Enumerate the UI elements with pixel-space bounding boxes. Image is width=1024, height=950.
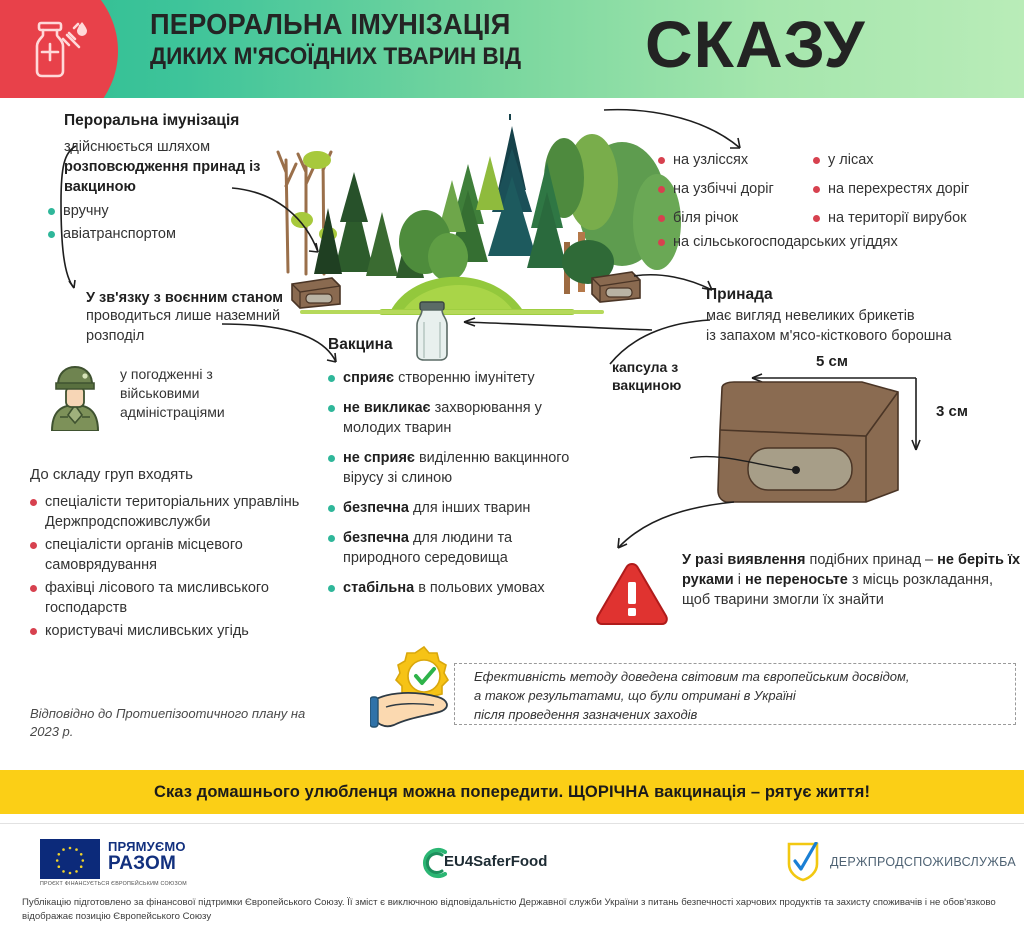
plan-note: Відповідно до Протиепізоотичного плану н… bbox=[30, 705, 330, 741]
callout-line3: після проведення зазначених заходів bbox=[474, 705, 1014, 724]
vaccine-item-rest: для інших тварин bbox=[409, 500, 531, 516]
list-item: на території вирубок bbox=[813, 208, 1024, 228]
bullet-dot-icon bbox=[328, 375, 335, 382]
list-item: у лісах bbox=[813, 150, 1024, 170]
header-titles: ПЕРОРАЛЬНА ІМУНІЗАЦІЯ ДИКИХ М'ЯСОЇДНИХ Т… bbox=[150, 8, 1010, 92]
place-label: на узліссях bbox=[673, 150, 748, 170]
groups-block: До складу груп входять спеціалісти терит… bbox=[30, 466, 310, 644]
bullet-dot-icon bbox=[658, 186, 665, 193]
disclaimer-text: Публікацію підготовлено за фінансової пі… bbox=[22, 896, 1012, 924]
list-item: фахівці лісового та мисливського господа… bbox=[30, 578, 310, 618]
callout-line1: Ефективність методу доведена світовим та… bbox=[474, 667, 1014, 686]
eu-word-1: ПРЯМУЄМО bbox=[108, 839, 186, 854]
bullet-dot-icon bbox=[30, 585, 37, 592]
bait-dim-width-text: 5 см bbox=[816, 353, 848, 370]
bullet-dot-icon bbox=[813, 215, 820, 222]
list-item: на перехрестях доріг bbox=[813, 179, 1024, 199]
vaccine-item-bold: безпечна bbox=[343, 500, 409, 516]
oral-immunization-title: Пероральна імунізація bbox=[64, 112, 290, 130]
vaccine-item: стабільна в польових умовах bbox=[343, 578, 545, 598]
bullet-dot-icon bbox=[328, 535, 335, 542]
bullet-dot-icon bbox=[30, 499, 37, 506]
place-label: на узбіччі доріг bbox=[673, 179, 774, 199]
place-label: на перехрестях доріг bbox=[828, 179, 969, 199]
header-title-big: СКАЗУ bbox=[645, 2, 866, 86]
group-label: спеціалісти територіальних управлінь Дер… bbox=[45, 492, 310, 532]
list-item: на узліссях bbox=[658, 150, 818, 170]
derzh-text: ДЕРЖПРОДСПОЖИВСЛУЖБА bbox=[830, 855, 1016, 869]
list-item: біля річок bbox=[658, 208, 818, 228]
eu4saferfood-logo: EU4SaferFood bbox=[418, 846, 618, 880]
effectiveness-callout: Ефективність методу доведена світовим та… bbox=[370, 645, 1024, 741]
brace-connector-icon bbox=[54, 142, 80, 292]
vaccine-item-bold: стабільна bbox=[343, 580, 414, 596]
vaccine-title: Вакцина bbox=[328, 336, 590, 354]
list-item: не викликає захворювання у молодих твари… bbox=[328, 398, 590, 438]
vaccine-block: Вакцина сприяє створенню імунітету не ви… bbox=[328, 336, 590, 608]
banner-text: Сказ домашнього улюбленця можна попереди… bbox=[154, 783, 870, 802]
bullet-dot-icon bbox=[813, 157, 820, 164]
oral-lead-normal: здійснюється шляхом bbox=[64, 139, 210, 155]
eu4saferfood-text: EU4SaferFood bbox=[444, 853, 547, 870]
list-item: стабільна в польових умовах bbox=[328, 578, 590, 598]
infographic-page: ПЕРОРАЛЬНА ІМУНІЗАЦІЯ ДИКИХ М'ЯСОЇДНИХ Т… bbox=[0, 0, 1024, 950]
eu-logo-words: ПРЯМУЄМО РАЗОМ bbox=[108, 839, 186, 874]
callout-text: Ефективність методу доведена світовим та… bbox=[474, 667, 1014, 724]
bullet-dot-icon bbox=[658, 239, 665, 246]
warning-triangle-icon bbox=[594, 560, 670, 628]
vaccine-item-rest: створенню імунітету bbox=[394, 370, 535, 386]
places-column-b: у лісах на перехрестях доріг на територі… bbox=[813, 150, 1024, 237]
list-item: безпечна для людини та природного середо… bbox=[328, 528, 590, 568]
bullet-dot-icon bbox=[813, 186, 820, 193]
vaccine-item-bold: сприяє bbox=[343, 370, 394, 386]
soldier-block: у погодженні з військовими адміністрація… bbox=[30, 355, 300, 435]
footer-logos: ПРЯМУЄМО РАЗОМ ПРОЄКТ ФІНАНСУЄТЬСЯ ЄВРОП… bbox=[0, 832, 1024, 888]
place-label: у лісах bbox=[828, 150, 874, 170]
eu-logo: ПРЯМУЄМО РАЗОМ ПРОЄКТ ФІНАНСУЄТЬСЯ ЄВРОП… bbox=[40, 837, 360, 887]
bullet-dot-icon bbox=[658, 215, 665, 222]
eu-word-2: РАЗОМ bbox=[108, 854, 186, 874]
vaccine-item-bold: не викликає bbox=[343, 400, 431, 416]
list-item: спеціалісти територіальних управлінь Дер… bbox=[30, 492, 310, 532]
vaccine-item: безпечна для інших тварин bbox=[343, 498, 530, 518]
list-item: на узбіччі доріг bbox=[658, 179, 818, 199]
groups-list: спеціалісти територіальних управлінь Дер… bbox=[30, 492, 310, 641]
footer-divider bbox=[0, 823, 1024, 824]
place-label: біля річок bbox=[673, 208, 738, 228]
bullet-dot-icon bbox=[328, 455, 335, 462]
list-item: користувачі мисливських угідь bbox=[30, 621, 310, 641]
warning-rest-1: подібних принад – bbox=[805, 552, 937, 568]
yellow-banner: Сказ домашнього улюбленця можна попереди… bbox=[0, 770, 1024, 814]
vaccine-item: не сприяє виділенню вакцинного вірусу зі… bbox=[343, 448, 590, 488]
vaccine-item: сприяє створенню імунітету bbox=[343, 368, 535, 388]
list-item: безпечна для інших тварин bbox=[328, 498, 590, 518]
shield-check-icon bbox=[786, 842, 820, 882]
vaccine-item-bold: безпечна bbox=[343, 530, 409, 546]
bullet-dot-icon bbox=[30, 542, 37, 549]
soldier-avatar-icon bbox=[38, 357, 112, 431]
derzhprodspozhyvsluzhba-logo: ДЕРЖПРОДСПОЖИВСЛУЖБА bbox=[786, 842, 1024, 882]
bullet-dot-icon bbox=[328, 505, 335, 512]
warning-text: У разі виявлення подібних принад – не бе… bbox=[682, 550, 1022, 610]
bullet-dot-icon bbox=[328, 405, 335, 412]
bait-line1: має вигляд невеликих брикетів bbox=[706, 306, 1024, 326]
group-label: фахівці лісового та мисливського господа… bbox=[45, 578, 310, 618]
list-item: на сільськогосподарських угіддях bbox=[658, 232, 998, 252]
list-item: спеціалісти органів місцевого самоврядув… bbox=[30, 535, 310, 575]
list-item: сприяє створенню імунітету bbox=[328, 368, 590, 388]
soldier-text: у погодженні з військовими адміністрація… bbox=[120, 365, 250, 422]
vaccine-vial-syringe-icon bbox=[22, 14, 94, 86]
callout-line2: а також результатами, що були отримані в… bbox=[474, 686, 1014, 705]
bullet-dot-icon bbox=[328, 585, 335, 592]
list-item: не сприяє виділенню вакцинного вірусу зі… bbox=[328, 448, 590, 488]
eu-logo-caption: ПРОЄКТ ФІНАНСУЄТЬСЯ ЄВРОПЕЙСЬКИМ СОЮЗОМ bbox=[40, 881, 187, 887]
bullet-dot-icon bbox=[30, 628, 37, 635]
bait-title: Принада bbox=[706, 286, 1024, 304]
warning-mid: і bbox=[734, 572, 745, 588]
place-label: на сільськогосподарських угіддях bbox=[673, 232, 898, 252]
bullet-dot-icon bbox=[658, 157, 665, 164]
warning-bold-1: У разі виявлення bbox=[682, 552, 805, 568]
places-column-a: на узліссях на узбіччі доріг біля річок bbox=[658, 150, 818, 237]
group-label: спеціалісти органів місцевого самоврядув… bbox=[45, 535, 310, 575]
vaccine-item: безпечна для людини та природного середо… bbox=[343, 528, 590, 568]
arrow-lead-to-bait-icon bbox=[228, 182, 328, 282]
page-header: ПЕРОРАЛЬНА ІМУНІЗАЦІЯ ДИКИХ М'ЯСОЇДНИХ Т… bbox=[0, 0, 1024, 98]
warning-bold-2b: не переносьте bbox=[745, 572, 848, 588]
places-wide-row: на сільськогосподарських угіддях bbox=[658, 232, 998, 261]
eu-stars-icon bbox=[40, 839, 100, 879]
vaccine-item-rest: в польових умовах bbox=[414, 580, 545, 596]
vaccine-item-bold: не сприяє bbox=[343, 450, 415, 466]
bait-block: Принада має вигляд невеликих брикетів із… bbox=[706, 286, 1024, 346]
groups-title: До складу груп входять bbox=[30, 466, 310, 483]
warning-block: У разі виявлення подібних принад – не бе… bbox=[594, 546, 1024, 646]
vaccine-item: не викликає захворювання у молодих твари… bbox=[343, 398, 590, 438]
bait-dim-height-text: 3 см bbox=[936, 403, 968, 420]
vaccine-properties-list: сприяє створенню імунітету не викликає з… bbox=[328, 368, 590, 598]
place-label: на території вирубок bbox=[828, 208, 967, 228]
group-label: користувачі мисливських угідь bbox=[45, 621, 249, 641]
